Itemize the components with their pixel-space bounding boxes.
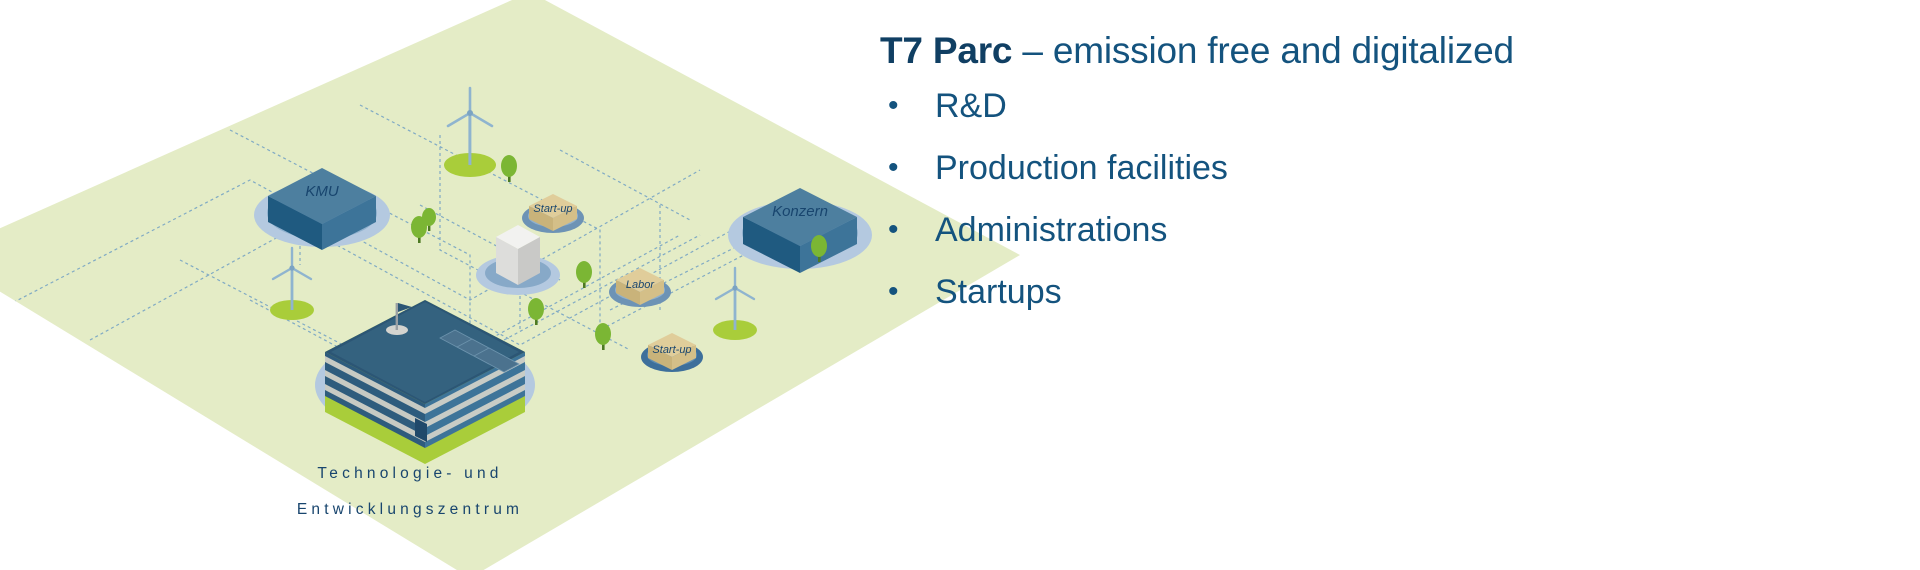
label-startup-lower: Start-up — [652, 344, 691, 356]
feature-bullet-list: • R&D • Production facilities • Administ… — [880, 88, 1680, 336]
label-labor: Labor — [626, 279, 655, 291]
bullet-icon: • — [880, 277, 935, 307]
bullet-label: Administrations — [935, 212, 1167, 249]
list-item: • Administrations — [880, 212, 1680, 274]
page-title-strong: T7 Parc — [880, 30, 1012, 71]
bullet-icon: • — [880, 91, 935, 121]
bullet-label: R&D — [935, 88, 1007, 125]
bullet-icon: • — [880, 153, 935, 183]
caption-line-2: Entwicklungszentrum — [297, 501, 523, 518]
page-title: T7 Parc – emission free and digitalized — [880, 30, 1514, 73]
list-item: • R&D — [880, 88, 1680, 150]
content-text-column: T7 Parc – emission free and digitalized … — [880, 0, 1880, 570]
bullet-label: Production facilities — [935, 150, 1228, 187]
isometric-park-illustration: KMU Konzern Start-up — [0, 0, 1020, 570]
list-item: • Startups — [880, 274, 1680, 336]
page-title-rest: – emission free and digitalized — [1012, 30, 1514, 71]
label-konzern: Konzern — [772, 203, 828, 220]
label-startup-upper: Start-up — [533, 203, 572, 215]
bullet-icon: • — [880, 215, 935, 245]
list-item: • Production facilities — [880, 150, 1680, 212]
caption-line-1: Technologie- und — [317, 465, 502, 482]
slide-canvas: KMU Konzern Start-up — [0, 0, 1920, 570]
bullet-label: Startups — [935, 274, 1062, 311]
label-kmu: KMU — [305, 183, 339, 200]
